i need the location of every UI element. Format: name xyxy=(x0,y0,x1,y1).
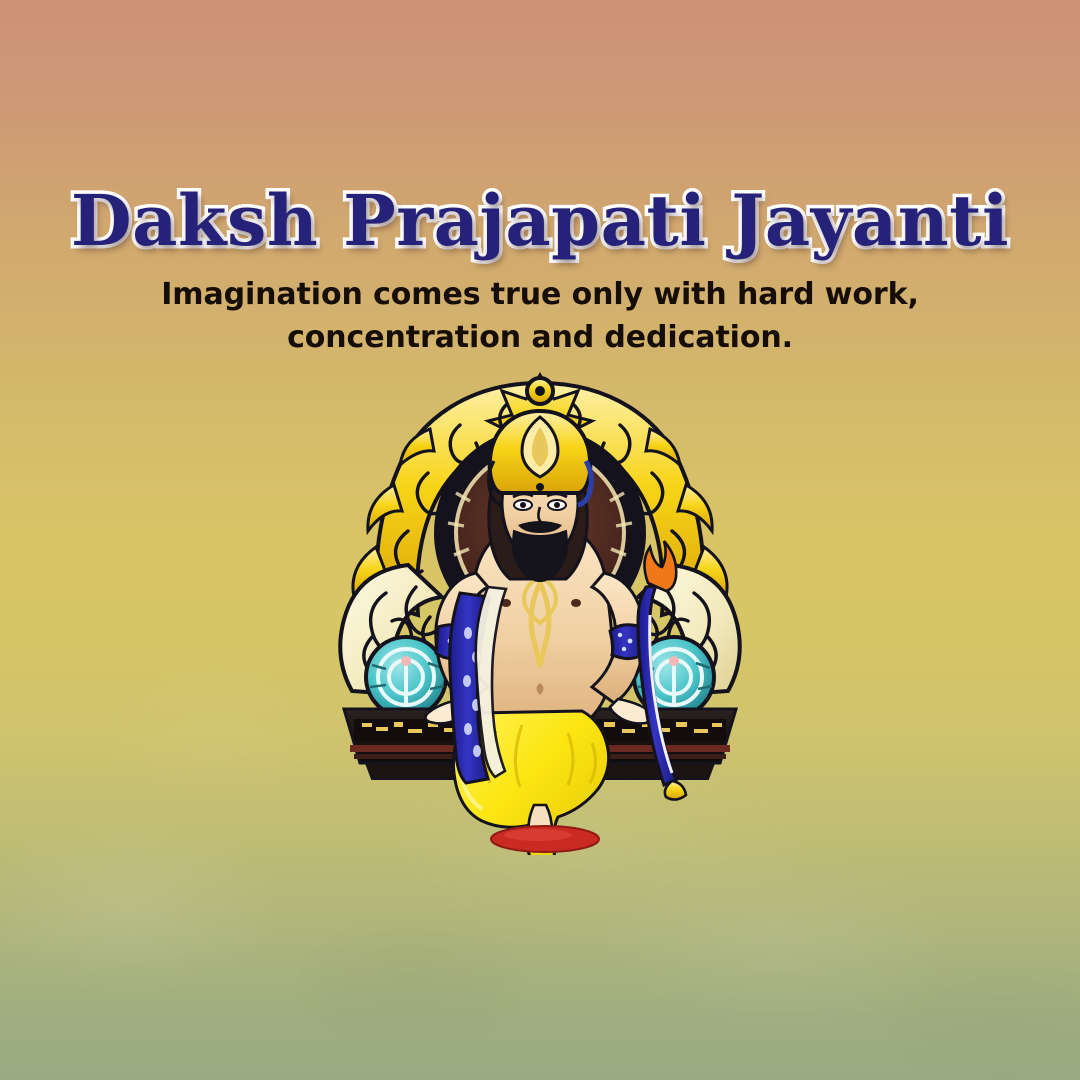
subtitle-line-1: Imagination comes true only with hard wo… xyxy=(0,274,1080,317)
page-title: Daksh Prajapati Jayanti xyxy=(0,186,1080,256)
subtitle-line-2: concentration and dedication. xyxy=(0,317,1080,360)
throne-crest-finial xyxy=(527,378,553,404)
daksh-prajapati-illustration xyxy=(310,365,770,855)
footstool xyxy=(491,826,599,852)
headline-block: Daksh Prajapati Jayanti Imagination come… xyxy=(0,186,1080,359)
deity-head xyxy=(489,411,592,581)
poster-canvas: Daksh Prajapati Jayanti Imagination come… xyxy=(0,0,1080,1080)
page-subtitle: Imagination comes true only with hard wo… xyxy=(0,274,1080,359)
medallion-left xyxy=(366,637,446,717)
